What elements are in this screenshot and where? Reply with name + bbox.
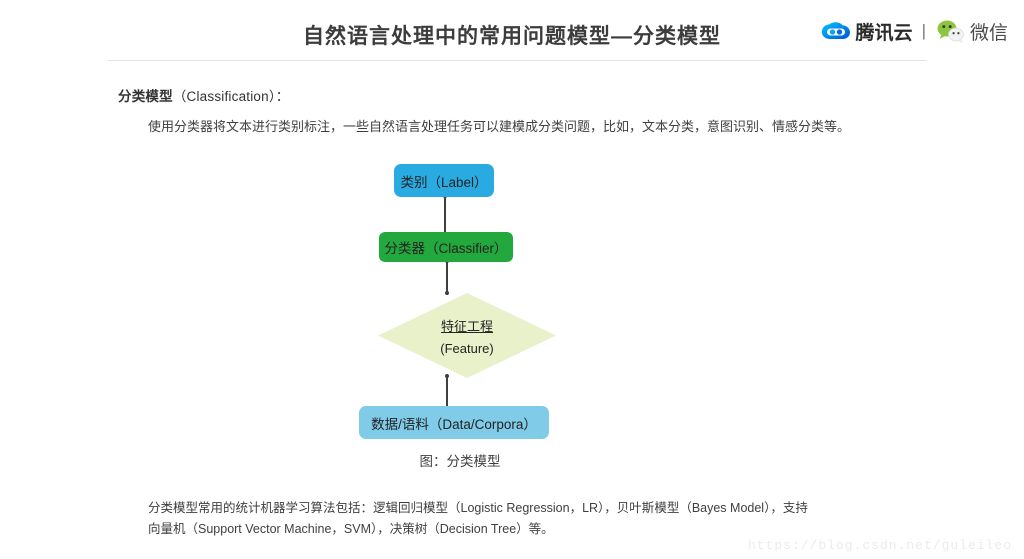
wechat-icon (935, 18, 965, 44)
tencent-cloud-brand: 腾讯云 (821, 18, 913, 45)
intro-paragraph: 使用分类器将文本进行类别标注，一些自然语言处理任务可以建模成分类问题，比如，文本… (148, 116, 908, 138)
diamond-text: 特征工程 (Feature) (378, 293, 556, 378)
feature-title: 特征工程 (441, 316, 493, 335)
connector-feature-data (446, 376, 448, 408)
connector-label-classifier (444, 196, 446, 234)
brand-bar: 腾讯云 | 微信 (821, 14, 1008, 48)
figure-caption: 图：分类模型 (330, 450, 590, 470)
wechat-label: 微信 (970, 18, 1008, 45)
section-heading: 分类模型（Classification）： (118, 85, 290, 105)
classification-flowchart: 类别（Label） 分类器（Classifier） 特征工程 (Feature)… (330, 160, 590, 445)
section-heading-cn: 分类模型 (118, 89, 173, 104)
section-heading-en: （Classification）： (173, 89, 290, 104)
flow-node-label: 类别（Label） (394, 164, 494, 197)
header-divider (108, 60, 926, 61)
footer-paragraph: 分类模型常用的统计机器学习算法包括：逻辑回归模型（Logistic Regres… (148, 498, 813, 539)
watermark: https://blog.csdn.net/guleileo (748, 538, 1012, 553)
feature-subtitle: (Feature) (440, 341, 493, 356)
tencent-cloud-label: 腾讯云 (856, 18, 913, 45)
brand-separator: | (922, 21, 926, 41)
tencent-cloud-icon (821, 20, 851, 42)
flow-node-classifier: 分类器（Classifier） (379, 232, 513, 262)
wechat-brand: 微信 (935, 18, 1008, 45)
flow-node-data: 数据/语料（Data/Corpora） (359, 406, 549, 439)
connector-classifier-feature (446, 261, 448, 295)
flow-node-feature: 特征工程 (Feature) (378, 293, 556, 378)
